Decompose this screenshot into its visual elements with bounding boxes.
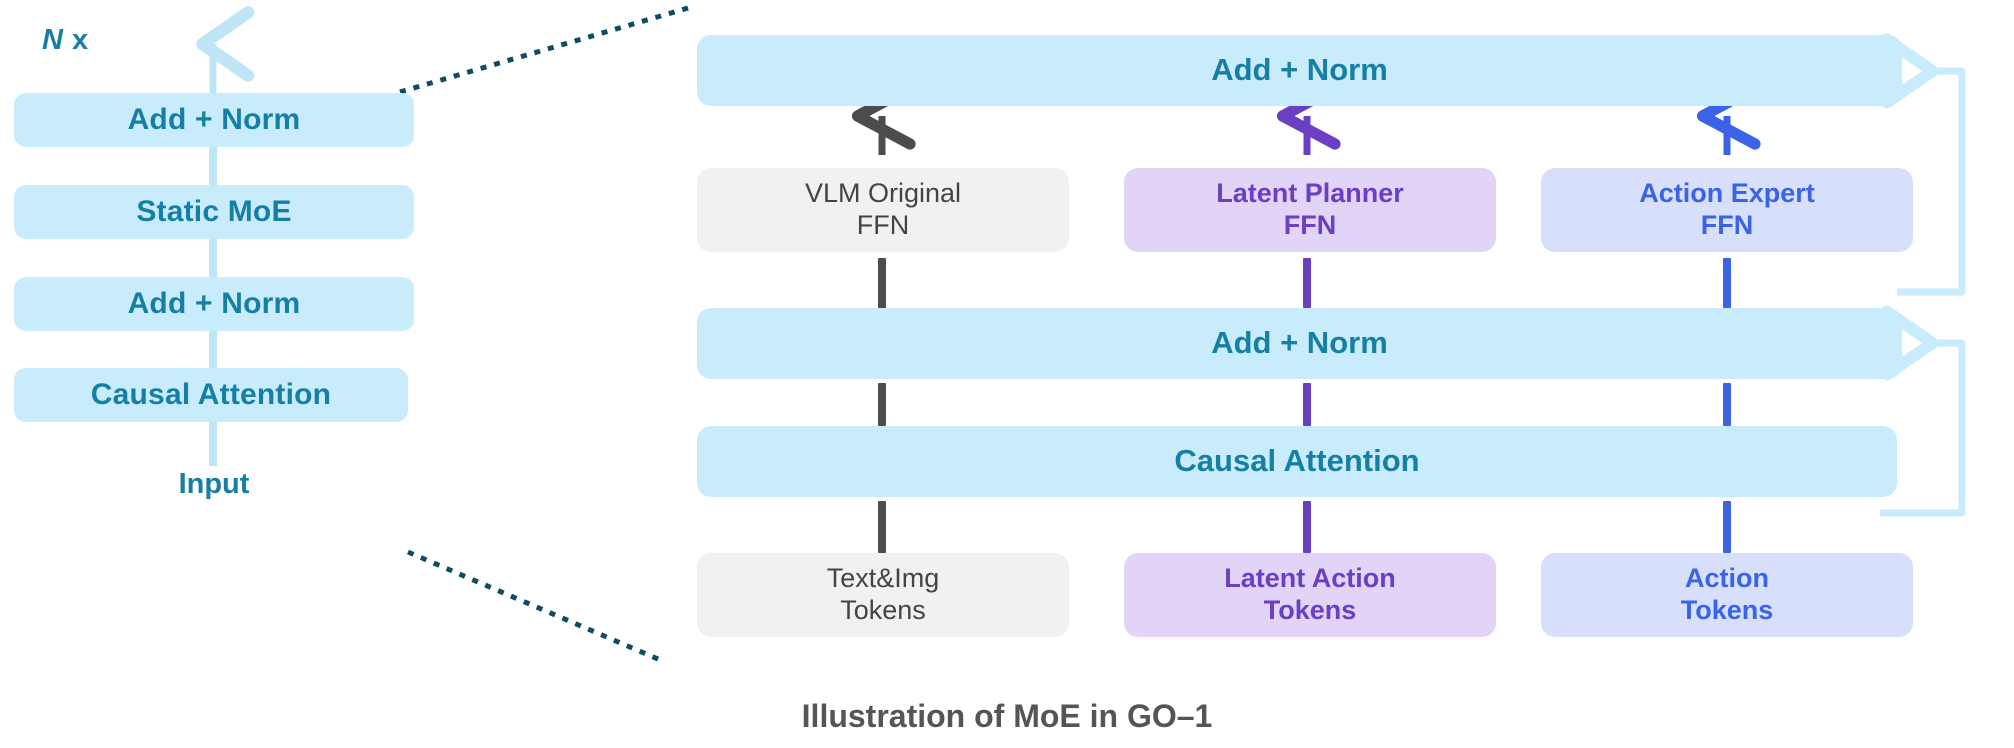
left-block-add-norm-2[interactable]: Add + Norm <box>14 93 414 147</box>
left-spine-2 <box>209 232 217 282</box>
moe-diagram: N x Add + Norm Static MoE Add + Norm Cau… <box>0 0 2014 748</box>
left-spine-3 <box>209 324 217 374</box>
connector-latent-ffn-down <box>1303 258 1311 308</box>
tokens-latent-action[interactable]: Latent Action Tokens <box>1124 553 1496 637</box>
repeat-count-n: N <box>42 24 63 56</box>
connector-vlm-ffn-down <box>878 258 886 308</box>
ffn-latent-planner[interactable]: Latent Planner FFN <box>1124 168 1496 252</box>
dotted-leader-bottom <box>408 552 665 662</box>
repeat-count-label: N x <box>42 24 89 57</box>
left-block-causal-attention[interactable]: Causal Attention <box>14 368 408 422</box>
tokens-text-img[interactable]: Text&Img Tokens <box>697 553 1069 637</box>
connector-action-ffn-down <box>1723 258 1731 308</box>
right-causal-attention[interactable]: Causal Attention <box>697 426 1897 497</box>
left-block-static-moe[interactable]: Static MoE <box>14 185 414 239</box>
figure-caption: Illustration of MoE in GO–1 <box>0 698 2014 735</box>
connector-text-tokens-up <box>878 501 886 553</box>
left-block-add-norm-1[interactable]: Add + Norm <box>14 277 414 331</box>
ffn-action-expert[interactable]: Action Expert FFN <box>1541 168 1913 252</box>
left-spine-1 <box>209 140 217 190</box>
dotted-leader-top <box>400 8 688 92</box>
repeat-count-x: x <box>63 24 88 56</box>
right-mid-add-norm[interactable]: Add + Norm <box>697 308 1902 379</box>
left-spine-bottom <box>209 416 217 466</box>
connector-addnorm-attn-col2 <box>1303 383 1311 426</box>
ffn-vlm-original[interactable]: VLM Original FFN <box>697 168 1069 252</box>
right-top-add-norm[interactable]: Add + Norm <box>697 35 1902 106</box>
left-input-label: Input <box>14 468 414 501</box>
connector-addnorm-attn-col1 <box>878 383 886 426</box>
connector-addnorm-attn-col3 <box>1723 383 1731 426</box>
connector-latent-tokens-up <box>1303 501 1311 553</box>
tokens-action[interactable]: Action Tokens <box>1541 553 1913 637</box>
connector-action-tokens-up <box>1723 501 1731 553</box>
